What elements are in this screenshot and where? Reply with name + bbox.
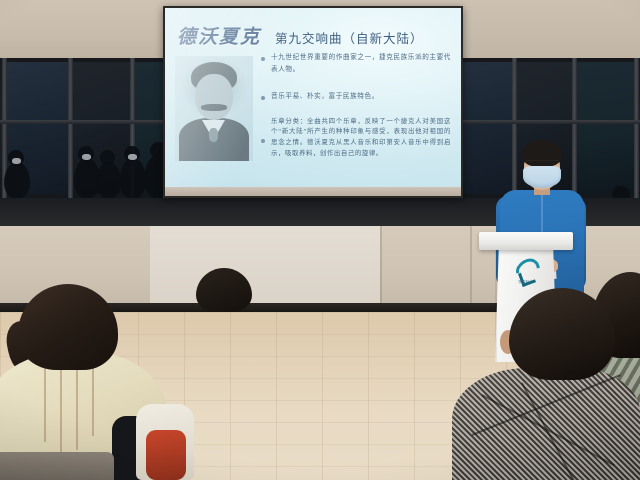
- slide-bullet-2: 音乐平易、朴实，富于民族特色。: [261, 91, 451, 103]
- face-mask-icon: [523, 166, 561, 188]
- portrait-moustache: [201, 104, 227, 111]
- bullet-dot-icon: [261, 139, 265, 143]
- slide-bullet-1: 十九世纪世界重要的作曲家之一，捷克民族乐派的主要代表人物。: [261, 52, 451, 75]
- slide-title: 德沃夏克: [177, 22, 261, 49]
- bullet-dot-icon: [261, 57, 265, 61]
- slide-bullet-2-text: 音乐平易、朴实，富于民族特色。: [271, 91, 379, 103]
- slide-bullet-3: 乐章分类：全曲共四个乐章，反映了一个捷克人对美国这个“新大陆”所产生的种种印象与…: [261, 117, 451, 161]
- composer-portrait-image: [175, 56, 253, 161]
- projection-screen: 德沃夏克 第九交响曲（自新大陆） 十九世纪世界重要的作曲家之一，捷克民族乐派的主…: [163, 6, 463, 198]
- slide-surface: 德沃夏克 第九交响曲（自新大陆） 十九世纪世界重要的作曲家之一，捷克民族乐派的主…: [165, 8, 461, 196]
- lower-wall-white-panel: [150, 226, 380, 312]
- upper-wall-right: [462, 0, 640, 62]
- podium-edge: [495, 250, 497, 362]
- bullet-dot-icon: [261, 96, 265, 100]
- school-emblem-icon: 学校标志: [511, 258, 541, 290]
- portrait-face: [195, 74, 233, 120]
- chair-back-left: [0, 452, 114, 480]
- slide-bullet-1-text: 十九世纪世界重要的作曲家之一，捷克民族乐派的主要代表人物。: [271, 52, 451, 75]
- student-checkered-jacket: [452, 368, 640, 480]
- slide-bullet-list: 十九世纪世界重要的作曲家之一，捷克民族乐派的主要代表人物。 音乐平易、朴实，富于…: [261, 52, 451, 169]
- slide-bullet-3-text: 乐章分类：全曲共四个乐章，反映了一个捷克人对美国这个“新大陆”所产生的种种印象与…: [271, 117, 451, 161]
- portrait-tie: [209, 128, 218, 142]
- student-bag-accent: [146, 430, 186, 480]
- lecture-hall-photo: 德沃夏克 第九交响曲（自新大陆） 十九世纪世界重要的作曲家之一，捷克民族乐派的主…: [0, 0, 640, 480]
- slide-subtitle: 第九交响曲（自新大陆）: [275, 28, 424, 47]
- screen-bottom-trim: [165, 187, 461, 196]
- podium-desktop: [479, 232, 573, 250]
- emblem-caption: 学校标志: [511, 280, 541, 285]
